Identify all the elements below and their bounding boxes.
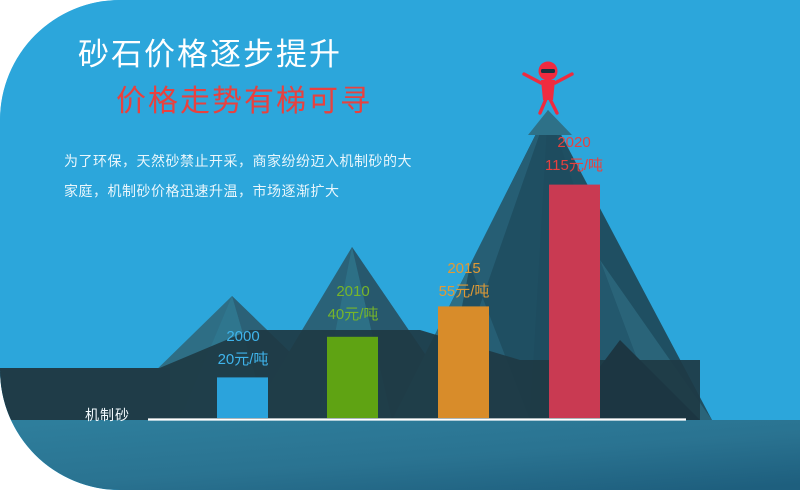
poster-card: 砂石价格逐步提升 价格走势有梯可寻 为了环保，天然砂禁止开采，商家纷纷迈入机制砂… <box>0 0 800 490</box>
bar-2000[interactable] <box>217 377 268 418</box>
bar-2020[interactable] <box>549 185 600 418</box>
axis-caption: 机制砂 <box>85 405 130 425</box>
bar-2015[interactable] <box>438 306 489 418</box>
foreground-base-band <box>0 420 800 490</box>
body-paragraph: 为了环保，天然砂禁止开采，商家纷纷迈入机制砂的大家庭，机制砂价格迅速升温，市场逐… <box>64 146 416 206</box>
bar-2010[interactable] <box>327 337 378 418</box>
infographic-poster: 砂石价格逐步提升 价格走势有梯可寻 为了环保，天然砂禁止开采，商家纷纷迈入机制砂… <box>0 0 800 490</box>
